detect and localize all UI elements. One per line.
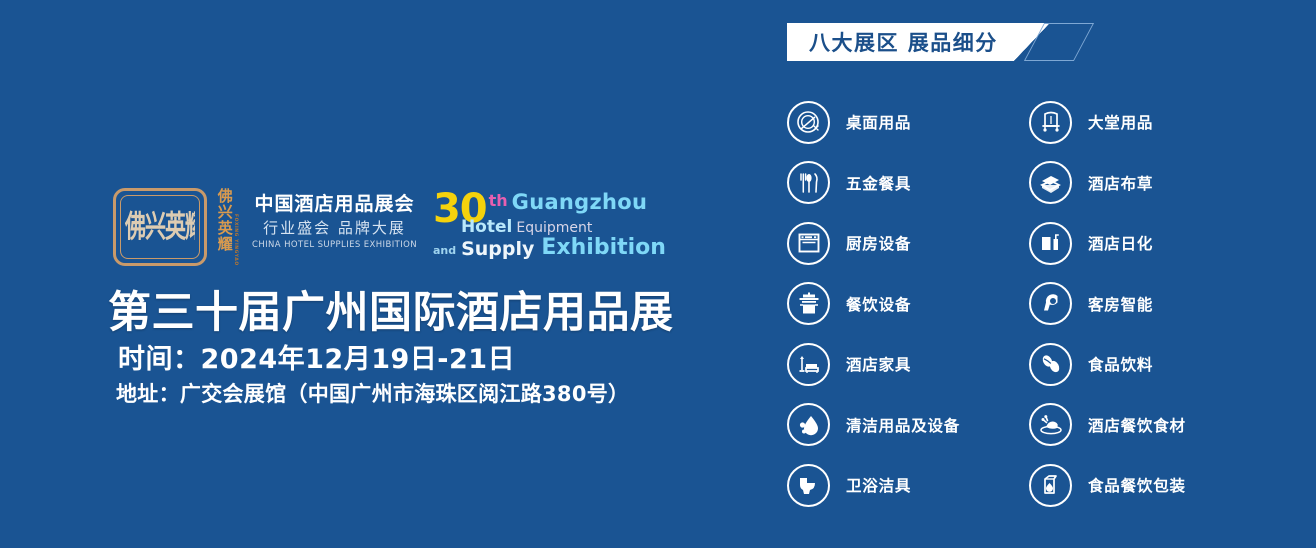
zones-row: 卫浴洁具 食品餐饮包装 [787, 455, 1287, 516]
seal-side-cn: 佛兴英耀 [216, 188, 232, 252]
word-and: and [433, 245, 456, 256]
ribbon-title: 八大展区 展品细分 [809, 27, 998, 57]
steamer-pot-icon [787, 282, 830, 325]
zone-item-sanitary[interactable]: 卫浴洁具 [787, 455, 1029, 516]
page-title: 第三十届广州国际酒店用品展 [108, 278, 674, 340]
zone-item-lobby[interactable]: 大堂用品 [1029, 92, 1279, 153]
coffee-beans-icon [1029, 343, 1072, 386]
seal-side-text: 佛兴英耀 FOXING YINGYAO [216, 188, 238, 266]
english-line-3: and Supply Exhibition [433, 237, 666, 259]
zone-item-cleaning[interactable]: 清洁用品及设备 [787, 395, 1029, 456]
zones-row: 厨房设备 酒店日化 [787, 213, 1287, 274]
word-equipment: Equipment [516, 220, 592, 236]
zone-label: 桌面用品 [846, 111, 911, 133]
brand-cn-english: CHINA HOTEL SUPPLIES EXHIBITION [252, 239, 417, 253]
word-exhibition: Exhibition [541, 237, 666, 259]
hair-dryer-icon [1029, 282, 1072, 325]
water-drop-icon [787, 403, 830, 446]
zones-row: 桌面用品 大堂用品 [787, 92, 1287, 153]
toiletries-icon [1029, 222, 1072, 265]
tableware-plates-icon [787, 101, 830, 144]
zone-item-furniture[interactable]: 酒店家具 [787, 334, 1029, 395]
zone-label: 厨房设备 [846, 232, 911, 254]
cutlery-icon [787, 161, 830, 204]
word-supply: Supply [461, 240, 534, 259]
oven-icon [787, 222, 830, 265]
zone-item-kitchen[interactable]: 厨房设备 [787, 213, 1029, 274]
bed-lamp-icon [787, 343, 830, 386]
brand-cn-main: 中国酒店用品展会 [252, 193, 417, 217]
word-hotel: Hotel [461, 217, 512, 237]
seal-glyph-row: 佛兴英耀 [125, 200, 195, 254]
zone-label: 餐饮设备 [846, 293, 911, 315]
zone-item-packaging[interactable]: 食品餐饮包装 [1029, 455, 1279, 516]
zone-label: 酒店家具 [846, 353, 911, 375]
zone-label: 食品餐饮包装 [1088, 474, 1186, 496]
roast-chicken-icon [1029, 403, 1072, 446]
event-address: 地址：广交会展馆（中国广州市海珠区阅江路380号） [116, 378, 629, 408]
ribbon-outline-shape [1034, 23, 1084, 61]
logo-lockup: 佛兴英耀 佛兴英耀 FOXING YINGYAO 中国酒店用品展会 行业盛会 品… [113, 188, 666, 266]
zone-label: 清洁用品及设备 [846, 414, 960, 436]
brand-cn-sub: 行业盛会 品牌大展 [252, 217, 417, 240]
edition-ordinal: th [489, 193, 508, 209]
zone-item-food-beverage[interactable]: 食品饮料 [1029, 334, 1279, 395]
zone-item-toiletries[interactable]: 酒店日化 [1029, 213, 1279, 274]
folded-linen-icon [1029, 161, 1072, 204]
zone-item-linen[interactable]: 酒店布草 [1029, 153, 1279, 214]
event-date: 时间：2024年12月19日-21日 [118, 337, 515, 376]
zone-item-cutlery[interactable]: 五金餐具 [787, 153, 1029, 214]
poster-canvas: 佛兴英耀 佛兴英耀 FOXING YINGYAO 中国酒店用品展会 行业盛会 品… [0, 0, 1316, 548]
zones-row: 清洁用品及设备 酒店餐饮食材 [787, 395, 1287, 456]
toilet-icon [787, 464, 830, 507]
english-brand-block: 30 th Guangzhou HotelEquipment and Suppl… [433, 188, 666, 259]
chinese-brand-block: 中国酒店用品展会 行业盛会 品牌大展 CHINA HOTEL SUPPLIES … [252, 188, 417, 253]
zone-label: 食品饮料 [1088, 353, 1153, 375]
zone-item-room-smart[interactable]: 客房智能 [1029, 274, 1279, 335]
seal-side-pinyin: FOXING YINGYAO [233, 188, 238, 266]
zones-row: 五金餐具 酒店布草 [787, 153, 1287, 214]
english-line-2: HotelEquipment [433, 219, 666, 236]
luggage-cart-icon [1029, 101, 1072, 144]
zone-label: 酒店日化 [1088, 232, 1153, 254]
zones-row: 餐饮设备 客房智能 [787, 274, 1287, 335]
left-branding-panel: 佛兴英耀 佛兴英耀 FOXING YINGYAO 中国酒店用品展会 行业盛会 品… [0, 0, 760, 548]
zone-item-catering-equipment[interactable]: 餐饮设备 [787, 274, 1029, 335]
zone-item-tableware[interactable]: 桌面用品 [787, 92, 1029, 153]
zones-row: 酒店家具 食品饮料 [787, 334, 1287, 395]
ribbon-body: 八大展区 展品细分 [787, 23, 1014, 61]
zone-label: 卫浴洁具 [846, 474, 911, 496]
zone-item-ingredients[interactable]: 酒店餐饮食材 [1029, 395, 1279, 456]
zone-label: 大堂用品 [1088, 111, 1153, 133]
right-zones-panel: 八大展区 展品细分 桌面用品 [760, 0, 1316, 548]
foxing-seal-logo: 佛兴英耀 [113, 188, 207, 266]
paper-bag-icon [1029, 464, 1072, 507]
zones-ribbon-header: 八大展区 展品细分 [787, 23, 1084, 61]
zones-grid: 桌面用品 大堂用品 [787, 92, 1287, 516]
zone-label: 酒店布草 [1088, 172, 1153, 194]
zone-label: 酒店餐饮食材 [1088, 414, 1186, 436]
city-name: Guangzhou [512, 192, 648, 213]
zone-label: 五金餐具 [846, 172, 911, 194]
zone-label: 客房智能 [1088, 293, 1153, 315]
